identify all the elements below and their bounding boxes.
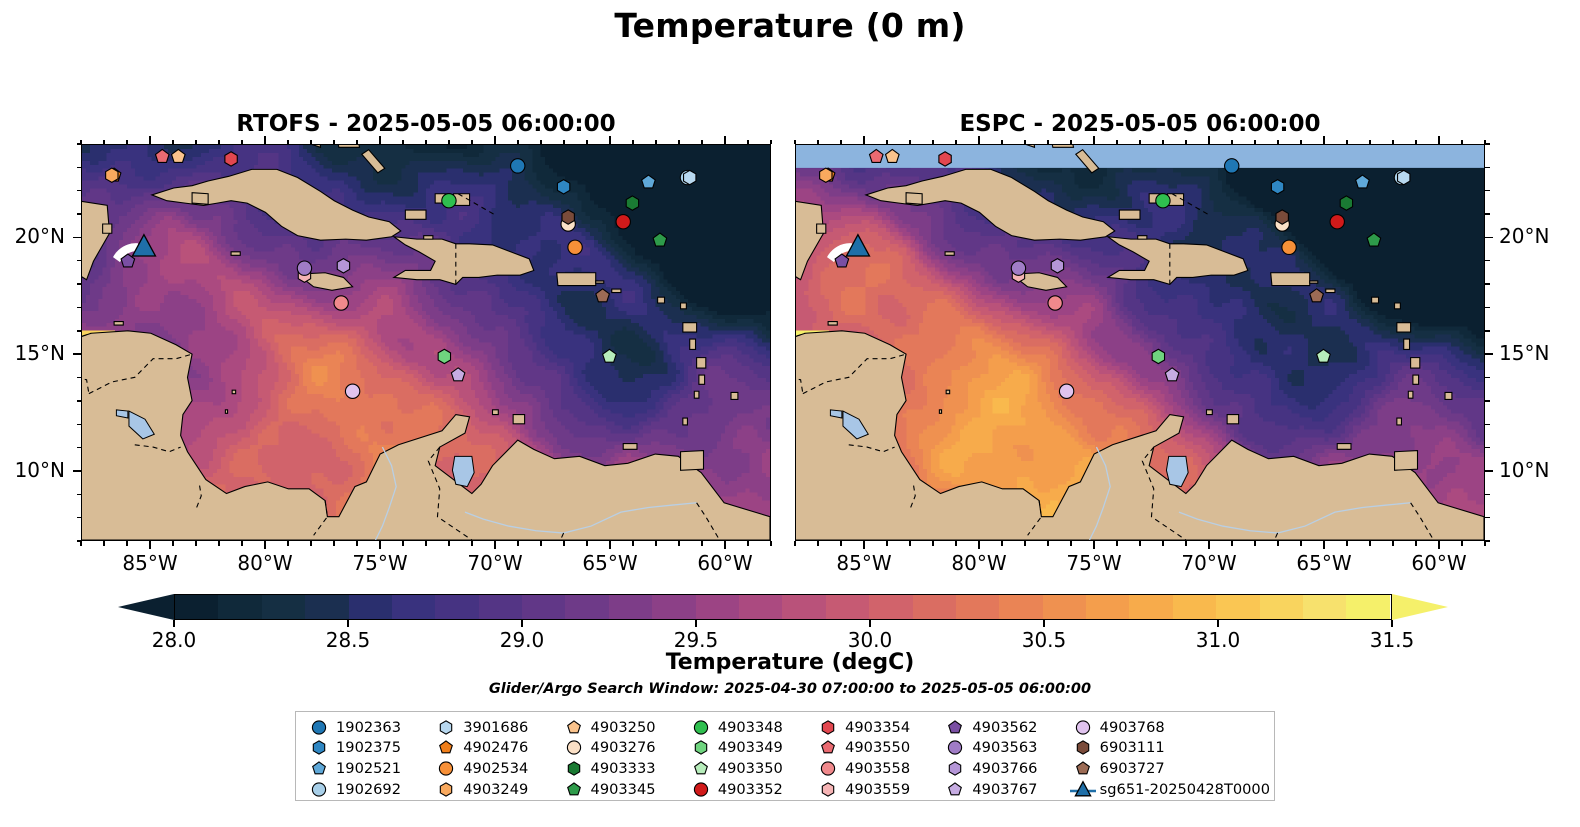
colorbar-segment bbox=[696, 595, 740, 620]
legend-item[interactable]: 4903767 bbox=[938, 779, 1065, 800]
y-tick-minor bbox=[77, 213, 82, 214]
x-tick bbox=[1438, 541, 1440, 549]
x-tick bbox=[978, 136, 980, 144]
y-tick-minor bbox=[77, 447, 82, 448]
x-tick-label: 80°W bbox=[919, 551, 1039, 575]
legend-item[interactable]: 4903352 bbox=[684, 779, 811, 800]
x-tick bbox=[978, 541, 980, 549]
colorbar-tick-label: 31.0 bbox=[1158, 628, 1278, 652]
legend-item[interactable]: 1902521 bbox=[302, 758, 429, 779]
legend-box[interactable]: 1902363190237519025211902692390168649024… bbox=[295, 711, 1275, 801]
legend-marker-hexagon-icon bbox=[429, 780, 463, 799]
y-tick-minor bbox=[1485, 494, 1490, 495]
y-tick-minor bbox=[77, 540, 82, 541]
x-tick-minor bbox=[655, 140, 656, 145]
x-tick-minor bbox=[701, 541, 702, 546]
x-tick bbox=[609, 136, 611, 144]
legend-marker-circle-icon bbox=[557, 738, 591, 757]
legend-label: 4902534 bbox=[463, 760, 528, 777]
colorbar-segment bbox=[1173, 595, 1217, 620]
legend-item[interactable]: 6903727 bbox=[1066, 758, 1270, 779]
legend-marker-circle-icon bbox=[429, 759, 463, 778]
y-tick-minor bbox=[1485, 167, 1490, 168]
legend-marker-glider-icon bbox=[1066, 780, 1100, 799]
legend-marker-pentagon-icon bbox=[302, 759, 336, 778]
legend-label: 4903558 bbox=[845, 760, 910, 777]
legend-marker-circle-icon bbox=[684, 780, 718, 799]
x-tick-label: 65°W bbox=[1264, 551, 1384, 575]
legend-marker-circle-icon bbox=[302, 780, 336, 799]
x-tick-label: 70°W bbox=[435, 551, 555, 575]
colorbar-tick bbox=[869, 620, 871, 627]
legend-item[interactable]: 6903111 bbox=[1066, 738, 1270, 759]
x-tick-minor bbox=[218, 541, 219, 546]
x-tick-minor bbox=[955, 541, 956, 546]
colorbar-segment bbox=[609, 595, 653, 620]
legend-marker-hexagon-icon bbox=[938, 759, 972, 778]
legend-marker-circle-icon bbox=[302, 718, 336, 737]
colorbar-segment bbox=[305, 595, 349, 620]
colorbar-segment bbox=[1216, 595, 1260, 620]
x-tick-minor bbox=[1001, 541, 1002, 546]
legend-marker-pentagon-icon bbox=[938, 718, 972, 737]
colorbar-tick-label: 28.0 bbox=[114, 628, 234, 652]
y-tick-minor bbox=[1485, 190, 1490, 191]
x-tick-minor bbox=[1369, 541, 1370, 546]
legend-item[interactable]: 4903563 bbox=[938, 738, 1065, 759]
x-tick-minor bbox=[1139, 140, 1140, 145]
colorbar-tick-label: 31.5 bbox=[1332, 628, 1452, 652]
colorbar-segment bbox=[1260, 595, 1304, 620]
x-tick bbox=[1093, 136, 1095, 144]
colorbar-segment bbox=[999, 595, 1043, 620]
x-tick-minor bbox=[1461, 541, 1462, 546]
legend-marker-pentagon-icon bbox=[557, 780, 591, 799]
legend-label: 4903345 bbox=[591, 781, 656, 798]
legend-item[interactable]: 4903558 bbox=[811, 758, 938, 779]
x-tick-minor bbox=[886, 541, 887, 546]
x-tick-minor bbox=[932, 541, 933, 546]
x-tick bbox=[1323, 136, 1325, 144]
colorbar-segment bbox=[652, 595, 696, 620]
y-tick bbox=[1485, 353, 1493, 355]
legend-item[interactable]: 4903559 bbox=[811, 779, 938, 800]
x-tick-minor bbox=[1116, 541, 1117, 546]
colorbar[interactable] bbox=[118, 594, 1448, 620]
legend-item[interactable]: 4903766 bbox=[938, 758, 1065, 779]
x-tick bbox=[863, 136, 865, 144]
legend-item[interactable]: sg651-20250428T0000 bbox=[1066, 779, 1270, 800]
x-tick-label: 75°W bbox=[1034, 551, 1154, 575]
x-tick-minor bbox=[1415, 140, 1416, 145]
x-tick-minor bbox=[448, 541, 449, 546]
legend-label: 4903550 bbox=[845, 739, 910, 756]
x-tick-minor bbox=[448, 140, 449, 145]
map-panel-espc[interactable] bbox=[795, 144, 1485, 541]
x-tick-minor bbox=[1300, 541, 1301, 546]
legend-item[interactable]: 4903348 bbox=[684, 717, 811, 738]
x-tick-minor bbox=[1185, 140, 1186, 145]
colorbar-tick bbox=[1391, 620, 1393, 627]
colorbar-segment bbox=[1303, 595, 1347, 620]
x-tick-minor bbox=[126, 541, 127, 546]
legend-label: 4903349 bbox=[718, 739, 783, 756]
x-tick-minor bbox=[103, 140, 104, 145]
y-tick-minor bbox=[1485, 260, 1490, 261]
x-tick-minor bbox=[310, 140, 311, 145]
legend-marker-pentagon-icon bbox=[1066, 759, 1100, 778]
legend-label: 4903354 bbox=[845, 719, 910, 736]
y-tick-minor bbox=[1485, 213, 1490, 214]
legend-item[interactable]: 4903562 bbox=[938, 717, 1065, 738]
legend-marker-hexagon-icon bbox=[302, 738, 336, 757]
x-tick-minor bbox=[1024, 140, 1025, 145]
x-tick-minor bbox=[586, 541, 587, 546]
x-tick-label: 75°W bbox=[320, 551, 440, 575]
x-tick bbox=[149, 541, 151, 549]
y-tick-minor bbox=[1485, 424, 1490, 425]
x-tick-minor bbox=[333, 140, 334, 145]
legend-label: 4902476 bbox=[463, 739, 528, 756]
colorbar-segment bbox=[956, 595, 1000, 620]
x-tick-minor bbox=[471, 541, 472, 546]
legend-label: 4903276 bbox=[591, 739, 656, 756]
x-tick-minor bbox=[678, 541, 679, 546]
colorbar-extend-min bbox=[118, 594, 174, 620]
legend-label: 6903727 bbox=[1100, 760, 1165, 777]
y-tick bbox=[73, 237, 81, 239]
x-tick-minor bbox=[287, 140, 288, 145]
legend-label: 4903350 bbox=[718, 760, 783, 777]
x-tick-minor bbox=[840, 140, 841, 145]
x-tick-label: 85°W bbox=[90, 551, 210, 575]
y-tick-label: 10°N bbox=[1499, 458, 1580, 482]
y-tick-minor bbox=[77, 400, 82, 401]
legend-label: 4903352 bbox=[718, 781, 783, 798]
colorbar-body bbox=[174, 594, 1392, 620]
x-tick-minor bbox=[1392, 541, 1393, 546]
x-tick-label: 80°W bbox=[205, 551, 325, 575]
x-tick-minor bbox=[1231, 541, 1232, 546]
x-tick bbox=[494, 136, 496, 144]
x-tick-minor bbox=[932, 140, 933, 145]
x-tick-minor bbox=[632, 541, 633, 546]
x-tick-minor bbox=[1254, 541, 1255, 546]
legend-marker-hexagon-icon bbox=[684, 738, 718, 757]
x-tick-minor bbox=[1231, 140, 1232, 145]
y-tick-label: 20°N bbox=[1499, 224, 1580, 248]
x-tick-minor bbox=[817, 140, 818, 145]
legend-marker-pentagon-icon bbox=[811, 738, 845, 757]
legend-item[interactable]: 4903276 bbox=[557, 738, 684, 759]
x-tick-minor bbox=[540, 541, 541, 546]
legend-item[interactable]: 4902476 bbox=[429, 738, 556, 759]
x-tick-minor bbox=[471, 140, 472, 145]
x-tick-minor bbox=[1070, 541, 1071, 546]
legend-label: 4903249 bbox=[463, 781, 528, 798]
x-tick bbox=[494, 541, 496, 549]
colorbar-segment bbox=[435, 595, 479, 620]
map-panel-rtofs[interactable] bbox=[81, 144, 771, 541]
colorbar-segment bbox=[479, 595, 523, 620]
x-tick-minor bbox=[770, 140, 771, 145]
y-tick bbox=[1485, 237, 1493, 239]
legend-label: 3901686 bbox=[463, 719, 528, 736]
legend-label: 1902363 bbox=[336, 719, 401, 736]
x-tick-minor bbox=[909, 541, 910, 546]
x-tick bbox=[609, 541, 611, 549]
x-tick bbox=[149, 136, 151, 144]
x-tick bbox=[379, 541, 381, 549]
legend-item[interactable]: 3901686 bbox=[429, 717, 556, 738]
x-tick bbox=[863, 541, 865, 549]
x-tick-label: 65°W bbox=[550, 551, 670, 575]
x-tick-minor bbox=[195, 541, 196, 546]
x-tick-minor bbox=[1277, 541, 1278, 546]
y-tick-label: 15°N bbox=[0, 341, 65, 365]
legend-label: 4903766 bbox=[972, 760, 1037, 777]
colorbar-segment bbox=[1346, 595, 1390, 620]
y-tick-minor bbox=[77, 377, 82, 378]
legend-marker-pentagon-icon bbox=[557, 718, 591, 737]
x-tick-minor bbox=[1461, 140, 1462, 145]
x-tick-minor bbox=[1024, 541, 1025, 546]
colorbar-label: Temperature (degC) bbox=[0, 650, 1580, 675]
y-tick-minor bbox=[77, 190, 82, 191]
legend-marker-circle-icon bbox=[684, 718, 718, 737]
x-tick bbox=[1093, 541, 1095, 549]
x-tick-minor bbox=[195, 140, 196, 145]
x-tick-minor bbox=[909, 140, 910, 145]
x-tick-minor bbox=[1415, 541, 1416, 546]
x-tick-minor bbox=[333, 541, 334, 546]
y-tick-minor bbox=[1485, 143, 1490, 144]
legend-item[interactable]: 4903768 bbox=[1066, 717, 1270, 738]
x-tick bbox=[1438, 136, 1440, 144]
x-tick-label: 60°W bbox=[1379, 551, 1499, 575]
x-tick-minor bbox=[1185, 541, 1186, 546]
colorbar-extend-max bbox=[1392, 594, 1448, 620]
x-tick bbox=[724, 541, 726, 549]
x-tick-minor bbox=[678, 140, 679, 145]
y-tick-label: 15°N bbox=[1499, 341, 1580, 365]
legend-marker-pentagon-icon bbox=[684, 759, 718, 778]
figure-title: Temperature (0 m) bbox=[0, 6, 1580, 45]
search-window-text: Glider/Argo Search Window: 2025-04-30 07… bbox=[0, 681, 1580, 697]
legend-item[interactable]: 4902534 bbox=[429, 758, 556, 779]
panel-title-espc: ESPC - 2025-05-05 06:00:00 bbox=[795, 111, 1485, 137]
colorbar-tick bbox=[173, 620, 175, 627]
x-tick-minor bbox=[770, 541, 771, 546]
x-tick bbox=[1208, 541, 1210, 549]
x-tick-minor bbox=[425, 541, 426, 546]
x-tick-minor bbox=[840, 541, 841, 546]
legend-marker-hexagon-icon bbox=[811, 718, 845, 737]
colorbar-segment bbox=[869, 595, 913, 620]
legend-item[interactable]: 4903250 bbox=[557, 717, 684, 738]
y-tick-minor bbox=[77, 283, 82, 284]
y-tick bbox=[73, 353, 81, 355]
x-tick-minor bbox=[955, 140, 956, 145]
legend-label: 4903250 bbox=[591, 719, 656, 736]
legend-item[interactable]: 1902692 bbox=[302, 779, 429, 800]
x-tick bbox=[264, 541, 266, 549]
y-tick-minor bbox=[77, 307, 82, 308]
x-tick-minor bbox=[402, 140, 403, 145]
x-tick-minor bbox=[563, 541, 564, 546]
legend-label: 4903348 bbox=[718, 719, 783, 736]
legend-item[interactable]: 1902375 bbox=[302, 738, 429, 759]
x-tick-minor bbox=[517, 140, 518, 145]
x-tick-minor bbox=[886, 140, 887, 145]
colorbar-tick-label: 30.0 bbox=[810, 628, 930, 652]
legend-label: 4903559 bbox=[845, 781, 910, 798]
legend-item[interactable]: 1902363 bbox=[302, 717, 429, 738]
y-tick-minor bbox=[1485, 330, 1490, 331]
colorbar-segment bbox=[739, 595, 783, 620]
figure-root: Temperature (0 m) RTOFS - 2025-05-05 06:… bbox=[0, 0, 1580, 827]
legend-marker-hexagon-icon bbox=[429, 718, 463, 737]
legend-label: 1902692 bbox=[336, 781, 401, 798]
x-tick-minor bbox=[356, 140, 357, 145]
colorbar-tick-label: 29.0 bbox=[462, 628, 582, 652]
legend-label: 4903768 bbox=[1100, 719, 1165, 736]
x-tick-minor bbox=[1254, 140, 1255, 145]
y-tick-minor bbox=[1485, 377, 1490, 378]
legend-label: 4903767 bbox=[972, 781, 1037, 798]
colorbar-tick bbox=[521, 620, 523, 627]
colorbar-segment bbox=[175, 595, 219, 620]
x-tick-minor bbox=[310, 541, 311, 546]
x-tick-minor bbox=[540, 140, 541, 145]
y-tick bbox=[1485, 470, 1493, 472]
x-tick-minor bbox=[241, 541, 242, 546]
x-tick-minor bbox=[747, 541, 748, 546]
legend-marker-circle-icon bbox=[938, 738, 972, 757]
legend-marker-hexagon-icon bbox=[1066, 738, 1100, 757]
y-tick-minor bbox=[77, 517, 82, 518]
legend-item[interactable]: 4903349 bbox=[684, 738, 811, 759]
x-tick-minor bbox=[701, 140, 702, 145]
legend-item[interactable]: 4903249 bbox=[429, 779, 556, 800]
colorbar-tick-label: 28.5 bbox=[288, 628, 408, 652]
x-tick-minor bbox=[586, 140, 587, 145]
legend-label: 4903333 bbox=[591, 760, 656, 777]
y-tick-minor bbox=[77, 424, 82, 425]
y-tick-minor bbox=[77, 260, 82, 261]
x-tick-minor bbox=[287, 541, 288, 546]
x-tick-minor bbox=[218, 140, 219, 145]
x-tick-minor bbox=[747, 140, 748, 145]
x-tick bbox=[1323, 541, 1325, 549]
colorbar-segment bbox=[218, 595, 262, 620]
x-tick-minor bbox=[1162, 541, 1163, 546]
y-tick-minor bbox=[77, 167, 82, 168]
legend-item[interactable]: 4903354 bbox=[811, 717, 938, 738]
x-tick-label: 60°W bbox=[665, 551, 785, 575]
colorbar-tick bbox=[347, 620, 349, 627]
y-tick-minor bbox=[77, 330, 82, 331]
x-tick-minor bbox=[794, 541, 795, 546]
colorbar-segment bbox=[349, 595, 393, 620]
colorbar-tick-label: 30.5 bbox=[984, 628, 1104, 652]
x-tick bbox=[264, 136, 266, 144]
x-tick bbox=[724, 136, 726, 144]
legend-label: sg651-20250428T0000 bbox=[1100, 781, 1270, 798]
colorbar-segment bbox=[782, 595, 826, 620]
colorbar-segment bbox=[913, 595, 957, 620]
legend-marker-hexagon-icon bbox=[811, 780, 845, 799]
colorbar-tick bbox=[695, 620, 697, 627]
legend-item[interactable]: 4903345 bbox=[557, 779, 684, 800]
legend-label: 4903563 bbox=[972, 739, 1037, 756]
x-tick-minor bbox=[402, 541, 403, 546]
x-tick-minor bbox=[172, 140, 173, 145]
y-tick-minor bbox=[77, 143, 82, 144]
x-tick-minor bbox=[1346, 541, 1347, 546]
legend-item[interactable]: 4903350 bbox=[684, 758, 811, 779]
x-tick bbox=[379, 136, 381, 144]
legend-label: 1902521 bbox=[336, 760, 401, 777]
legend-item[interactable]: 4903550 bbox=[811, 738, 938, 759]
colorbar-segment bbox=[1129, 595, 1173, 620]
x-tick-minor bbox=[356, 541, 357, 546]
colorbar-segment bbox=[1043, 595, 1087, 620]
x-tick-minor bbox=[563, 140, 564, 145]
x-tick-minor bbox=[103, 541, 104, 546]
x-tick-minor bbox=[1300, 140, 1301, 145]
y-tick-minor bbox=[1485, 283, 1490, 284]
legend-marker-pentagon-icon bbox=[429, 738, 463, 757]
legend-marker-pentagon-icon bbox=[938, 780, 972, 799]
y-tick-minor bbox=[1485, 517, 1490, 518]
x-tick-minor bbox=[1047, 541, 1048, 546]
x-tick-minor bbox=[817, 541, 818, 546]
colorbar-segment bbox=[826, 595, 870, 620]
y-tick-label: 20°N bbox=[0, 224, 65, 248]
colorbar-segment bbox=[565, 595, 609, 620]
colorbar-tick-label: 29.5 bbox=[636, 628, 756, 652]
legend-label: 1902375 bbox=[336, 739, 401, 756]
legend-label: 6903111 bbox=[1100, 739, 1165, 756]
colorbar-tick bbox=[1217, 620, 1219, 627]
colorbar-tick bbox=[1043, 620, 1045, 627]
legend-label: 4903562 bbox=[972, 719, 1037, 736]
x-tick-minor bbox=[1369, 140, 1370, 145]
panel-title-rtofs: RTOFS - 2025-05-05 06:00:00 bbox=[81, 111, 771, 137]
x-tick-minor bbox=[1001, 140, 1002, 145]
x-tick-label: 70°W bbox=[1149, 551, 1269, 575]
x-tick-minor bbox=[1070, 140, 1071, 145]
x-tick-minor bbox=[172, 541, 173, 546]
colorbar-segment bbox=[1086, 595, 1130, 620]
legend-marker-circle-icon bbox=[1066, 718, 1100, 737]
x-tick-minor bbox=[1346, 140, 1347, 145]
x-tick-minor bbox=[1392, 140, 1393, 145]
x-tick-minor bbox=[126, 140, 127, 145]
legend-item[interactable]: 4903333 bbox=[557, 758, 684, 779]
x-tick-minor bbox=[517, 541, 518, 546]
y-tick-minor bbox=[1485, 447, 1490, 448]
legend-grid: 1902363190237519025211902692390168649024… bbox=[302, 717, 1270, 799]
y-tick bbox=[73, 470, 81, 472]
x-tick-minor bbox=[241, 140, 242, 145]
x-tick-minor bbox=[425, 140, 426, 145]
y-tick-minor bbox=[1485, 400, 1490, 401]
x-tick-minor bbox=[655, 541, 656, 546]
x-tick-label: 85°W bbox=[804, 551, 924, 575]
x-tick-minor bbox=[1139, 541, 1140, 546]
